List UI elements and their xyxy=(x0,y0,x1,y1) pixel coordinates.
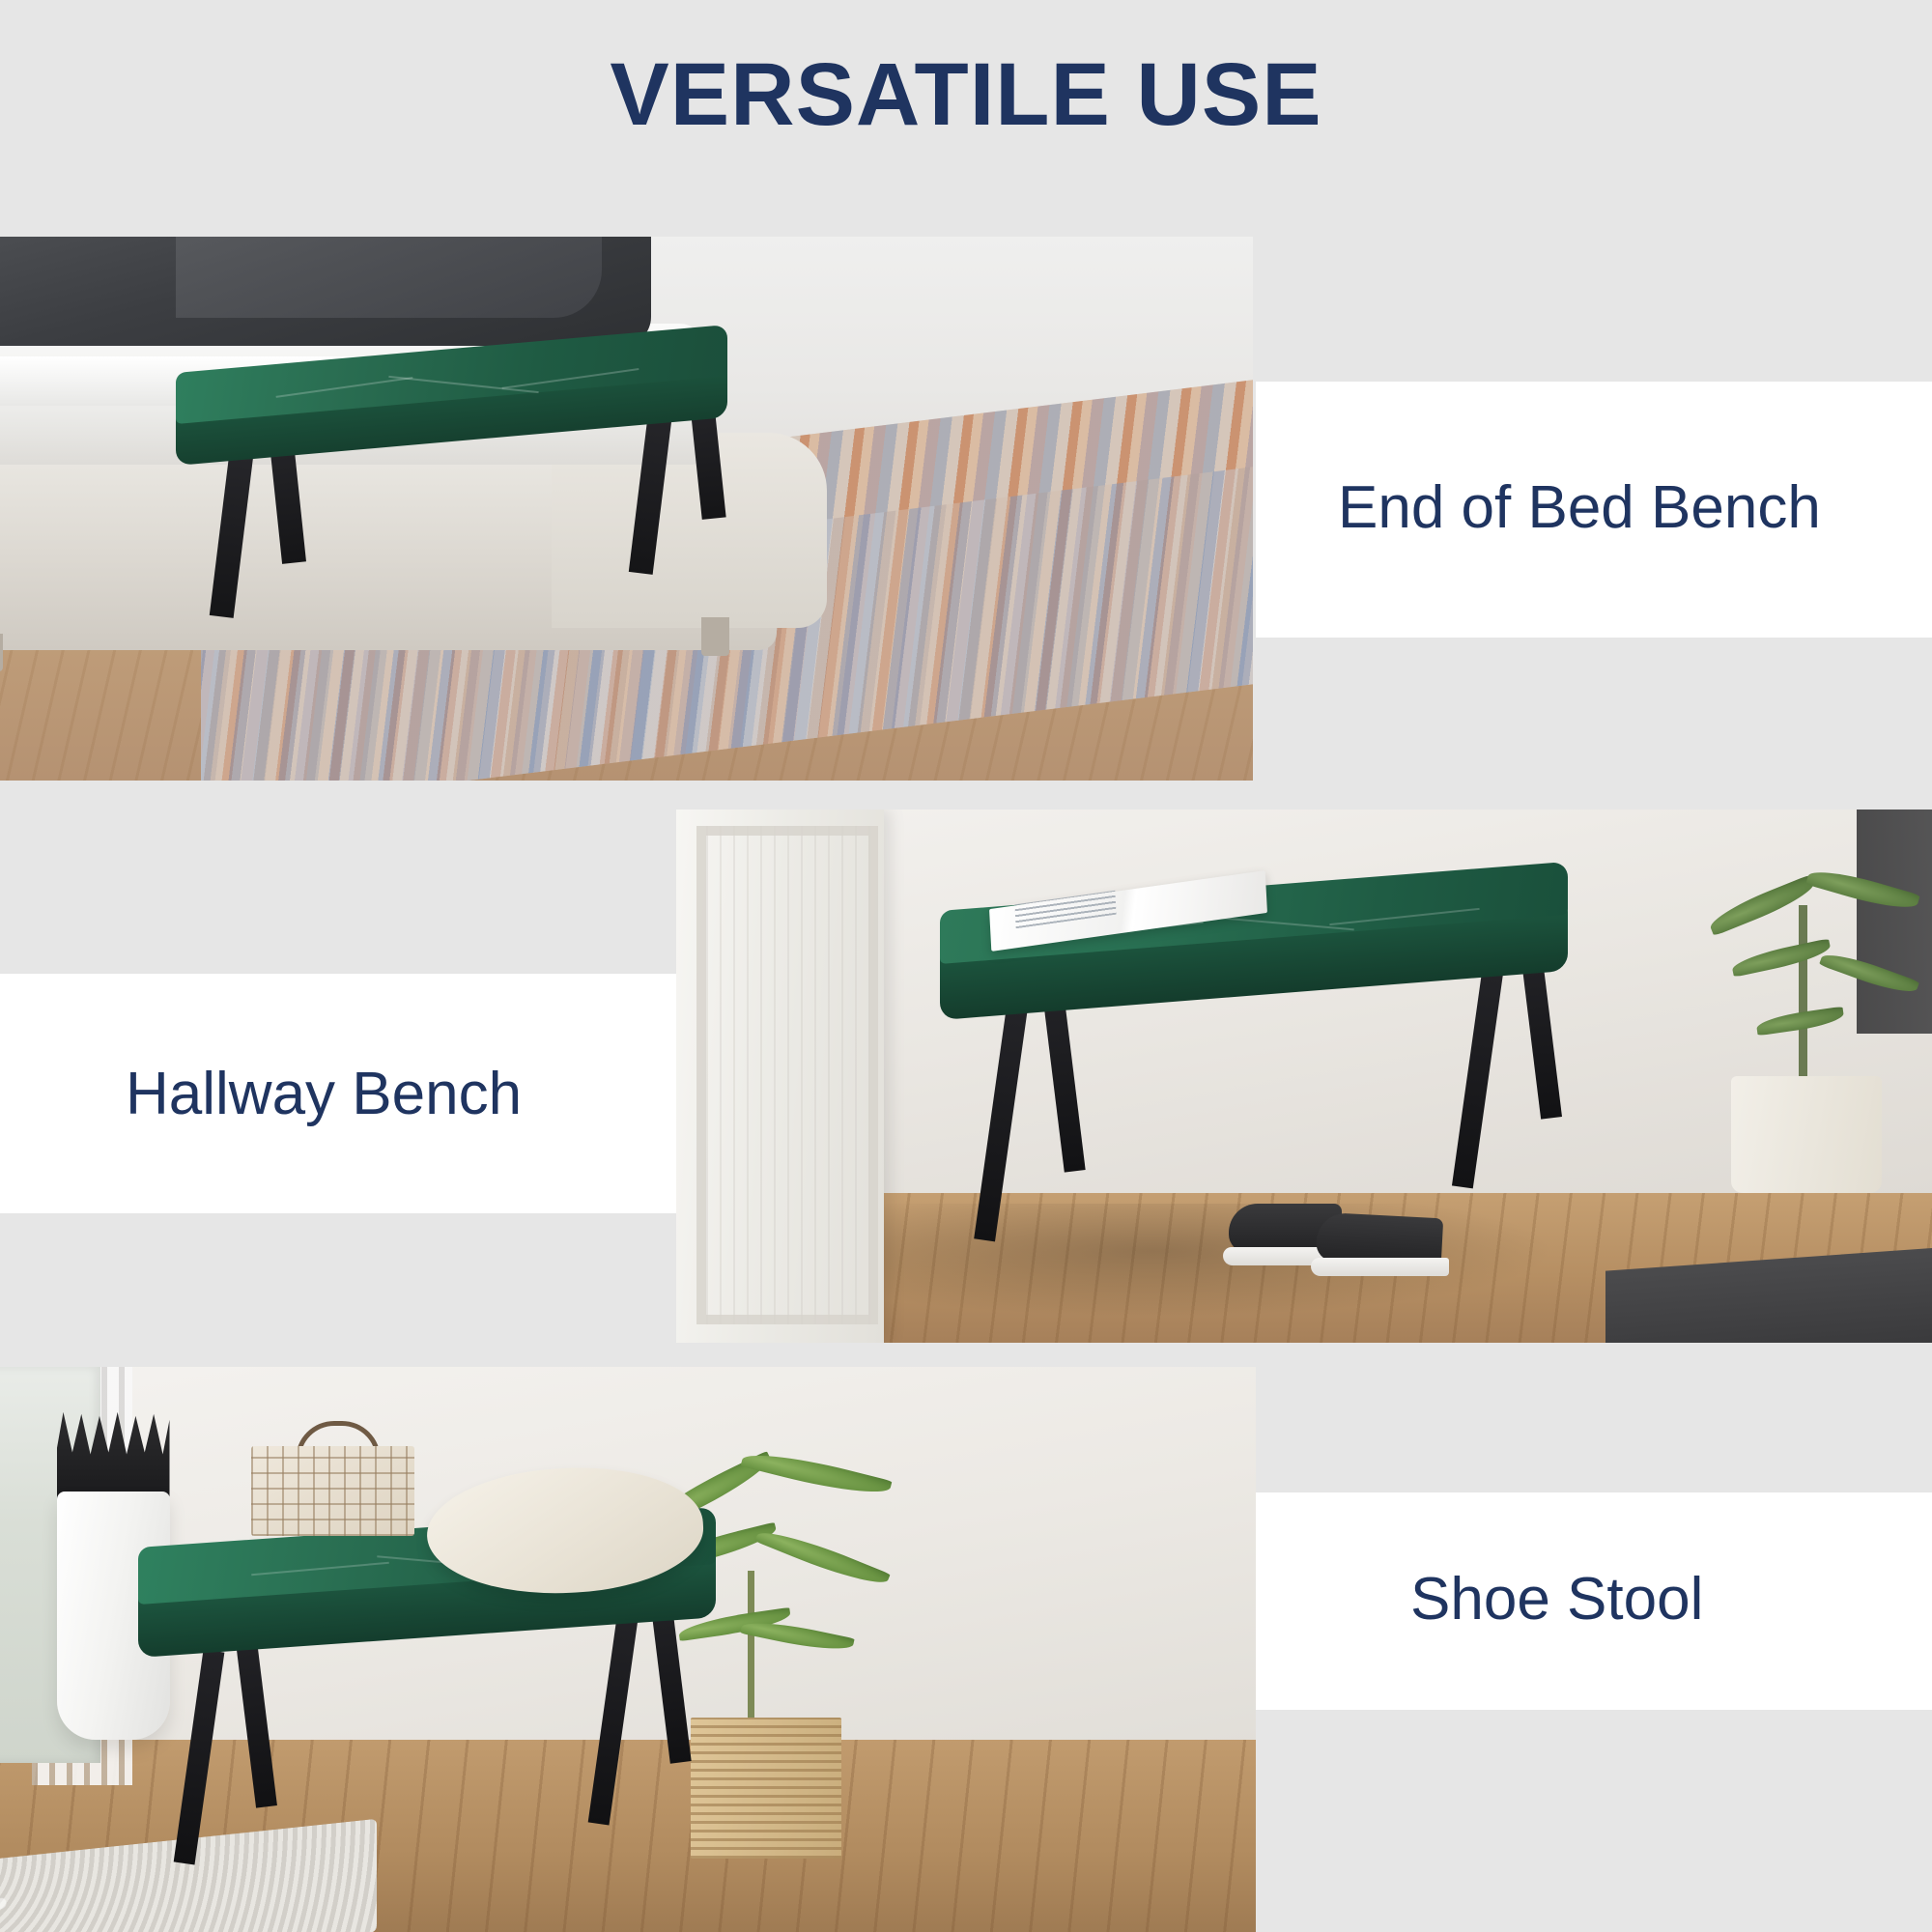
page-title: VERSATILE USE xyxy=(0,50,1932,139)
section-image-hallway-bench xyxy=(676,810,1932,1343)
sneaker-right-sole xyxy=(1311,1258,1449,1276)
palm-trunk xyxy=(748,1571,755,1729)
plant-trunk xyxy=(1799,905,1807,1087)
bed-leg xyxy=(701,617,729,655)
wire-shelf xyxy=(1857,810,1932,1034)
infographic-page: VERSATILE USE End xyxy=(0,0,1932,1932)
bench-floor-shadow xyxy=(802,1204,1580,1321)
door-panel xyxy=(696,826,877,1325)
section-label-end-of-bed-bench: End of Bed Bench xyxy=(1338,478,1821,538)
wooden-planter xyxy=(691,1718,841,1859)
checked-handbag xyxy=(251,1446,414,1537)
section-label-shoe-stool: Shoe Stool xyxy=(1410,1570,1703,1630)
plant-basket-pot xyxy=(1731,1076,1882,1193)
bed-leg xyxy=(0,634,3,671)
section-label-hallway-bench: Hallway Bench xyxy=(126,1065,522,1124)
section-image-end-of-bed-bench xyxy=(0,237,1253,781)
door-frame xyxy=(676,810,884,1343)
section-image-shoe-stool xyxy=(0,1367,1256,1932)
bed-throw-blanket-fold xyxy=(176,237,602,318)
